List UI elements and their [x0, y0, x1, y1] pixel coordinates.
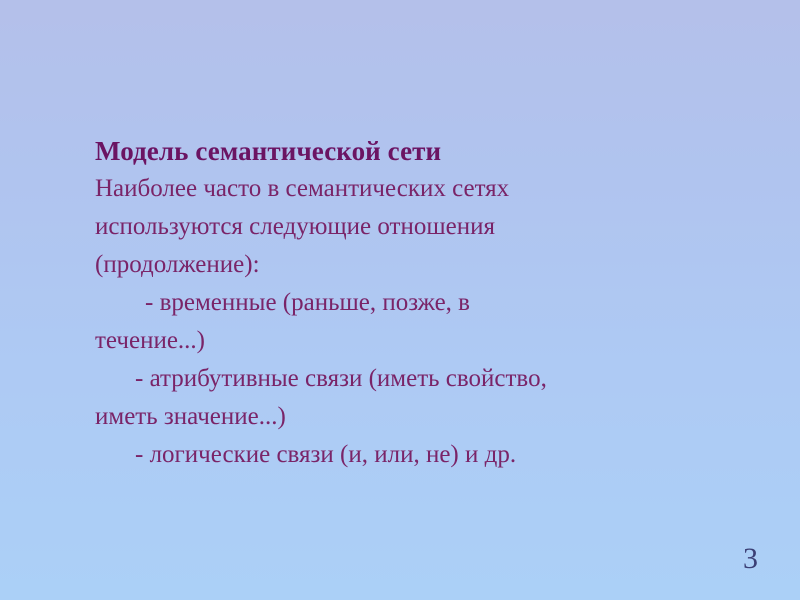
slide-title: Модель семантической сети	[95, 132, 715, 170]
page-number: 3	[743, 542, 758, 576]
body-line: - логические связи (и, или, не) и др.	[95, 436, 715, 474]
body-line: течение...)	[95, 322, 715, 360]
body-line: - атрибутивные связи (иметь свойство,	[95, 360, 715, 398]
presentation-slide: Модель семантической сети Наиболее часто…	[0, 0, 800, 600]
body-line: Наиболее часто в семантических сетях	[95, 170, 715, 208]
body-line: используются следующие отношения	[95, 208, 715, 246]
slide-content-block: Модель семантической сети Наиболее часто…	[95, 132, 715, 474]
body-line: (продолжение):	[95, 246, 715, 284]
body-line: - временные (раньше, позже, в	[95, 284, 715, 322]
slide-body-text: Наиболее часто в семантических сетяхиспо…	[95, 170, 715, 474]
body-line: иметь значение...)	[95, 398, 715, 436]
